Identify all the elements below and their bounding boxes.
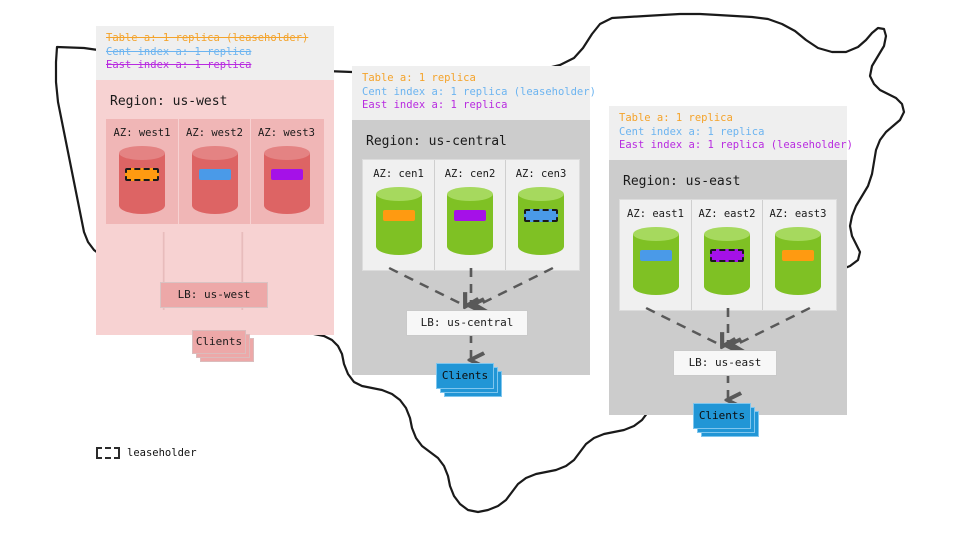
region-panel-us-central: Table a: 1 replica Cent index a: 1 repli… <box>352 66 590 375</box>
legend-line-cent: Cent index a: 1 replica <box>619 126 837 140</box>
key-label: leaseholder <box>127 447 197 459</box>
legend-line-east: East index a: 1 replica <box>106 59 324 73</box>
region-body-us-central: Region: us-central AZ: cen1 AZ: cen2 <box>352 120 590 375</box>
cylinder-top <box>633 227 679 241</box>
cylinder-body <box>119 153 165 214</box>
node-cylinder-cen3[interactable] <box>518 187 564 255</box>
cylinder-body <box>376 194 422 255</box>
node-cylinder-west1[interactable] <box>119 146 165 214</box>
az-cell-west2[interactable]: AZ: west2 <box>178 119 250 224</box>
az-row-us-east: AZ: east1 AZ: east2 AZ: east3 <box>619 199 837 311</box>
node-cylinder-west2[interactable] <box>192 146 238 214</box>
dashed-rect-icon <box>96 447 120 459</box>
legend-line-east: East index a: 1 replica (leaseholder) <box>619 139 837 153</box>
replica-chip-table[interactable] <box>383 210 415 221</box>
clients-label-us-east: Clients <box>693 403 751 429</box>
region-legend-us-west: Table a: 1 replica (leaseholder) Cent in… <box>96 26 334 80</box>
legend-line-east: East index a: 1 replica <box>362 99 580 113</box>
cylinder-body <box>518 194 564 255</box>
cylinder-top <box>518 187 564 201</box>
node-cylinder-west3[interactable] <box>264 146 310 214</box>
cylinder-body <box>633 234 679 295</box>
clients-us-west[interactable]: Clients <box>192 330 254 356</box>
az-label-east2: AZ: east2 <box>699 208 756 220</box>
az-label-west1: AZ: west1 <box>114 127 171 139</box>
load-balancer-us-west[interactable]: LB: us-west <box>160 282 268 308</box>
replica-chip-table[interactable] <box>782 250 814 261</box>
region-body-us-west: Region: us-west AZ: west1 AZ: west2 <box>96 80 334 335</box>
az-cell-east2[interactable]: AZ: east2 <box>691 200 762 310</box>
node-cylinder-east3[interactable] <box>775 227 821 295</box>
arrow-east3-to-lb <box>733 308 809 346</box>
region-title-us-east: Region: us-east <box>619 170 837 199</box>
az-cell-west3[interactable]: AZ: west3 <box>250 119 322 224</box>
az-label-west2: AZ: west2 <box>186 127 243 139</box>
cylinder-body <box>264 153 310 214</box>
clients-label-us-central: Clients <box>436 363 494 389</box>
az-label-west3: AZ: west3 <box>258 127 315 139</box>
az-row-us-central: AZ: cen1 AZ: cen2 AZ: cen3 <box>362 159 580 271</box>
node-cylinder-east2[interactable] <box>704 227 750 295</box>
replica-chip-cent-index-leaseholder[interactable] <box>524 209 558 222</box>
az-cell-east3[interactable]: AZ: east3 <box>762 200 833 310</box>
region-panel-us-east: Table a: 1 replica Cent index a: 1 repli… <box>609 106 847 415</box>
cylinder-body <box>447 194 493 255</box>
replica-chip-east-index[interactable] <box>454 210 486 221</box>
az-cell-west1[interactable]: AZ: west1 <box>106 119 178 224</box>
cylinder-top <box>704 227 750 241</box>
arrow-east1-to-lb <box>646 308 722 346</box>
cylinder-top <box>192 146 238 160</box>
load-balancer-us-east[interactable]: LB: us-east <box>673 350 777 376</box>
node-cylinder-east1[interactable] <box>633 227 679 295</box>
clients-us-central[interactable]: Clients <box>436 363 502 391</box>
cylinder-top <box>119 146 165 160</box>
region-title-us-west: Region: us-west <box>106 90 324 119</box>
legend-line-table: Table a: 1 replica <box>362 72 580 86</box>
cylinder-top <box>447 187 493 201</box>
az-cell-cen2[interactable]: AZ: cen2 <box>434 160 505 270</box>
cylinder-top <box>775 227 821 241</box>
cylinder-top <box>264 146 310 160</box>
replica-chip-east-index-leaseholder[interactable] <box>710 249 744 262</box>
az-label-cen1: AZ: cen1 <box>373 168 424 180</box>
region-legend-us-central: Table a: 1 replica Cent index a: 1 repli… <box>352 66 590 120</box>
arrow-cen3-to-lb <box>476 268 552 306</box>
load-balancer-us-central[interactable]: LB: us-central <box>406 310 528 336</box>
clients-us-east[interactable]: Clients <box>693 403 759 431</box>
node-cylinder-cen2[interactable] <box>447 187 493 255</box>
az-cell-east1[interactable]: AZ: east1 <box>620 200 691 310</box>
replica-chip-table-leaseholder[interactable] <box>125 168 159 181</box>
diagram-key: leaseholder <box>96 447 197 459</box>
legend-line-cent: Cent index a: 1 replica (leaseholder) <box>362 86 580 100</box>
az-row-us-west: AZ: west1 AZ: west2 AZ: west3 <box>106 119 324 224</box>
clients-label-us-west: Clients <box>192 330 246 354</box>
az-label-cen2: AZ: cen2 <box>445 168 496 180</box>
region-body-us-east: Region: us-east AZ: east1 AZ: east2 <box>609 160 847 415</box>
cylinder-body <box>704 234 750 295</box>
legend-line-table: Table a: 1 replica <box>619 112 837 126</box>
replica-chip-east-index[interactable] <box>271 169 303 180</box>
region-legend-us-east: Table a: 1 replica Cent index a: 1 repli… <box>609 106 847 160</box>
az-label-cen3: AZ: cen3 <box>516 168 567 180</box>
region-panel-us-west: Table a: 1 replica (leaseholder) Cent in… <box>96 26 334 335</box>
legend-line-cent: Cent index a: 1 replica <box>106 46 324 60</box>
region-title-us-central: Region: us-central <box>362 130 580 159</box>
arrow-cen1-to-lb <box>389 268 465 306</box>
legend-line-table: Table a: 1 replica (leaseholder) <box>106 32 324 46</box>
node-cylinder-cen1[interactable] <box>376 187 422 255</box>
az-label-east1: AZ: east1 <box>627 208 684 220</box>
replica-chip-cent-index[interactable] <box>640 250 672 261</box>
cylinder-top <box>376 187 422 201</box>
replica-chip-cent-index[interactable] <box>199 169 231 180</box>
az-cell-cen1[interactable]: AZ: cen1 <box>363 160 434 270</box>
cylinder-body <box>775 234 821 295</box>
az-label-east3: AZ: east3 <box>770 208 827 220</box>
cylinder-body <box>192 153 238 214</box>
az-cell-cen3[interactable]: AZ: cen3 <box>505 160 576 270</box>
